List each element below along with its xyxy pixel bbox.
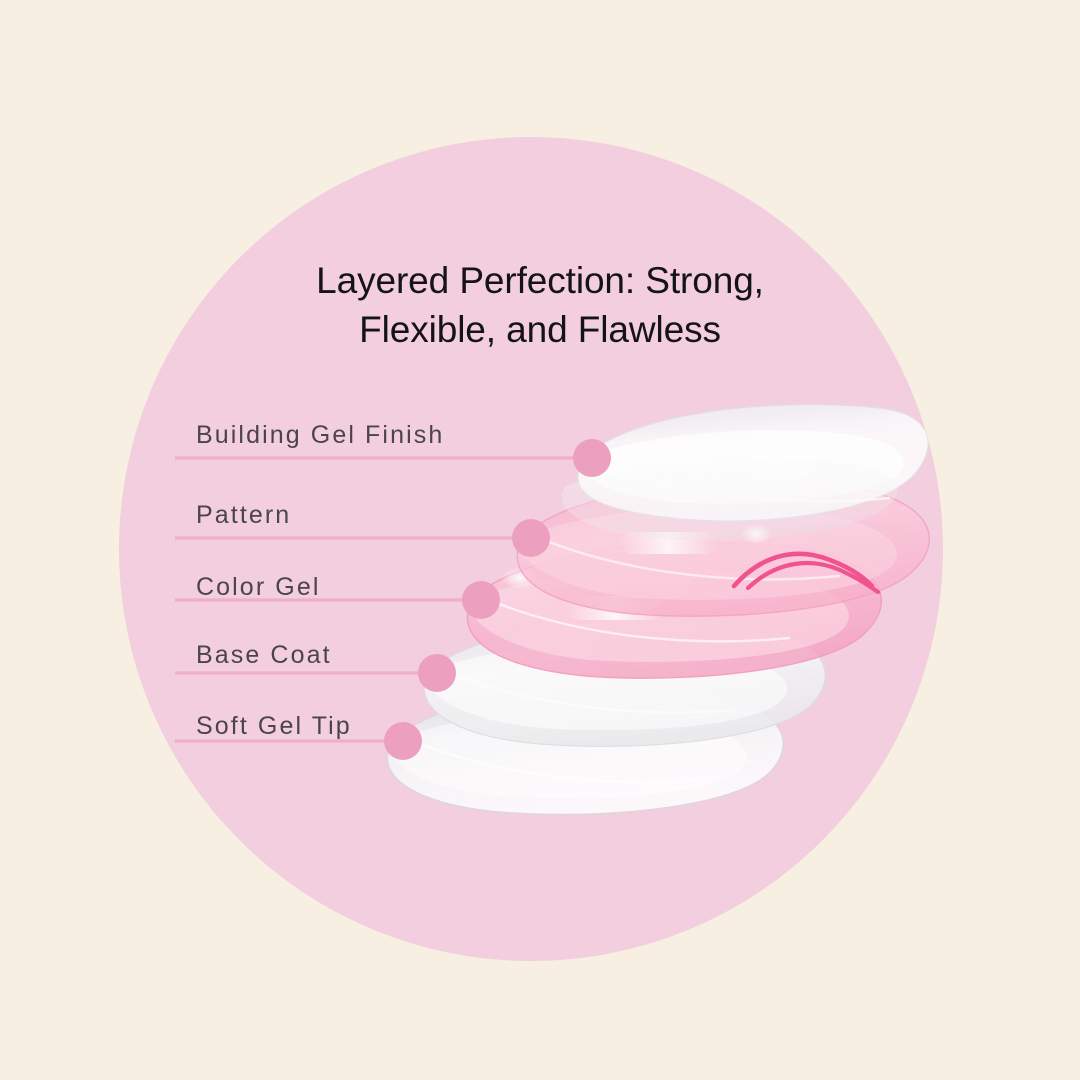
infographic-canvas: Layered Perfection: Strong, Flexible, an… [0,0,1080,1080]
callout-label-soft-gel-tip: Soft Gel Tip [196,712,352,741]
marker-dot [512,519,550,557]
callout-label-color-gel: Color Gel [196,573,321,602]
illustration-svg [0,0,1080,1080]
callout-label-base-coat: Base Coat [196,641,332,670]
callout-label-pattern: Pattern [196,501,291,530]
marker-dot [384,722,422,760]
callout-label-building-gel-finish: Building Gel Finish [196,421,444,450]
marker-dot [462,581,500,619]
marker-dot [573,439,611,477]
marker-dot [418,654,456,692]
